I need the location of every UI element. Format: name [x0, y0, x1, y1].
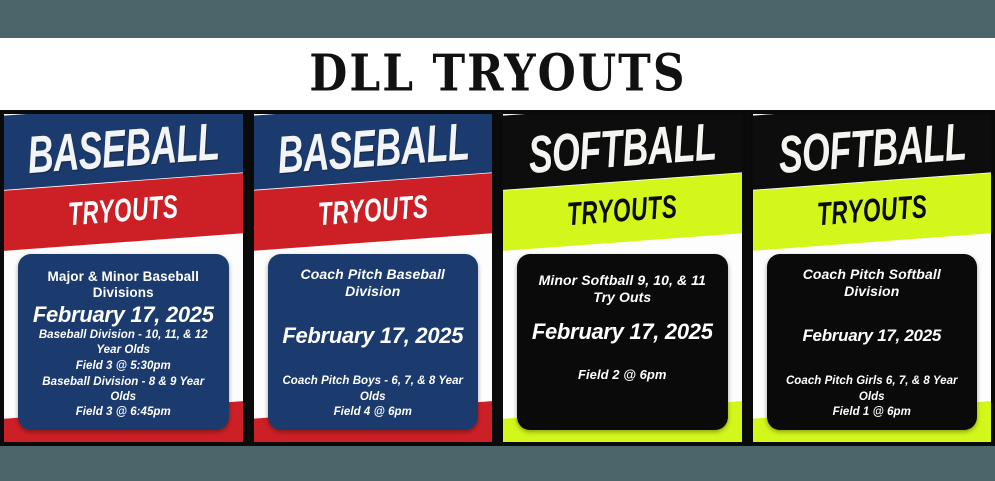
poster-detail-1-line-2: Field 3 @ 5:30pm: [76, 359, 171, 374]
poster-detail-1-line-1: Coach Pitch Girls 6, 7, & 8 Year Olds: [777, 374, 968, 404]
poster-card-baseball-coach-pitch[interactable]: BASEBALL TRYOUTS Coach Pitch Baseball Di…: [250, 110, 497, 446]
poster-detail-2-line-2: Field 3 @ 6:45pm: [76, 405, 171, 420]
poster-artwork: BASEBALL TRYOUTS Major & Minor Baseball …: [4, 114, 243, 442]
poster-division-line-1: Minor Softball 9, 10, & 11: [539, 272, 706, 289]
poster-artwork: SOFTBALL TRYOUTS Coach Pitch Softball Di…: [753, 114, 992, 442]
poster-date: February 17, 2025: [532, 320, 713, 344]
poster-info-panel: Minor Softball 9, 10, & 11 Try Outs Febr…: [517, 254, 728, 430]
poster-info-panel: Major & Minor Baseball Divisions Februar…: [18, 254, 229, 430]
poster-detail-1-line-1: Field 2 @ 6pm: [578, 366, 666, 383]
poster-card-softball-coach-pitch[interactable]: SOFTBALL TRYOUTS Coach Pitch Softball Di…: [749, 110, 995, 446]
poster-division: Coach Pitch Baseball Division: [278, 266, 469, 300]
poster-row: BASEBALL TRYOUTS Major & Minor Baseball …: [0, 110, 995, 446]
title-band: DLL TRYOUTS: [0, 38, 995, 110]
poster-date: February 17, 2025: [33, 303, 214, 327]
page-title: DLL TRYOUTS: [309, 45, 686, 104]
poster-card-baseball-major-minor[interactable]: BASEBALL TRYOUTS Major & Minor Baseball …: [0, 110, 247, 446]
poster-division-line-2: Try Outs: [593, 289, 651, 306]
poster-date: February 17, 2025: [282, 324, 463, 348]
poster-card-softball-minor[interactable]: SOFTBALL TRYOUTS Minor Softball 9, 10, &…: [499, 110, 746, 446]
poster-info-panel: Coach Pitch Baseball Division February 1…: [268, 254, 479, 430]
poster-collage: DLL TRYOUTS BASEBALL TRYOUTS Major & Min…: [0, 0, 995, 481]
poster-date: February 17, 2025: [802, 327, 941, 346]
poster-detail-1-line-1: Coach Pitch Boys - 6, 7, & 8 Year Olds: [278, 374, 469, 404]
poster-info-panel: Coach Pitch Softball Division February 1…: [767, 254, 978, 430]
poster-detail-1-line-2: Field 1 @ 6pm: [833, 405, 911, 420]
poster-detail-1-line-1: Baseball Division - 10, 11, & 12 Year Ol…: [28, 328, 219, 358]
poster-division: Coach Pitch Softball Division: [777, 266, 968, 300]
poster-division: Major & Minor Baseball Divisions: [28, 269, 219, 302]
poster-detail-2-line-1: Baseball Division - 8 & 9 Year Olds: [28, 375, 219, 405]
poster-artwork: SOFTBALL TRYOUTS Minor Softball 9, 10, &…: [503, 114, 742, 442]
poster-detail-1-line-2: Field 4 @ 6pm: [334, 405, 412, 420]
poster-artwork: BASEBALL TRYOUTS Coach Pitch Baseball Di…: [254, 114, 493, 442]
